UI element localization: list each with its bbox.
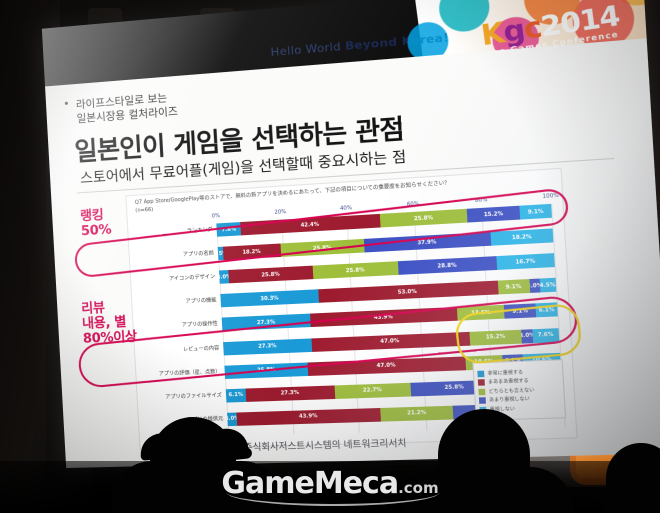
- bar-segment: 30.3%: [220, 290, 319, 308]
- bar-category-label: アプリの機能: [185, 297, 216, 306]
- bullet-dot-icon: [65, 102, 68, 105]
- bar-segment: 43.9%: [237, 408, 382, 426]
- chart-bar-row: レビューの内容27.3%47.0%15.2%3.0%7.6%: [223, 328, 559, 355]
- slide-bullet: 라이프스타일로 보는 일본시장용 컬처라이즈: [76, 90, 179, 126]
- bar-segment: 15.2%: [469, 329, 522, 345]
- x-axis-tick: 40%: [340, 205, 352, 212]
- bar-category-label: アプリの名前: [183, 249, 214, 258]
- bar-segment: 9.1%: [504, 304, 536, 319]
- bar-category-label: アイコンのデザイン: [169, 273, 216, 282]
- bar-segment: 7.6%: [532, 328, 559, 343]
- bar-segment: 22.7%: [334, 383, 411, 399]
- stacked-bar: 27.3%43.9%13.6%9.1%6.1%: [222, 303, 558, 331]
- bar-segment: 53.0%: [319, 281, 499, 303]
- bar-segment: 28.8%: [398, 256, 497, 275]
- bar-segment: 37.9%: [364, 232, 491, 253]
- legend-item: まあまあ重視する: [478, 377, 560, 386]
- bar-category-label: ランキング: [187, 226, 213, 235]
- slide-body: 라이프스타일로 보는 일본시장용 컬처라이즈 일본인이 게임을 선택하는 관점 …: [45, 38, 660, 468]
- legend-swatch: [478, 379, 485, 386]
- bar-segment: 25.8%: [224, 362, 308, 379]
- chart-bar-row: アイコンのデザイン3.0%25.8%25.8%28.8%16.7%: [219, 253, 555, 284]
- x-axis-tick: 20%: [274, 209, 286, 216]
- legend-label: あまり重視しない: [489, 396, 530, 404]
- survey-chart: Q7 App Store/GooglePlay等のストアで、無料の新アプリを決め…: [125, 168, 577, 450]
- legend-swatch: [477, 370, 484, 377]
- bar-segment: 25.8%: [229, 266, 313, 284]
- bar-category-label: アプリの操作性: [181, 320, 218, 329]
- bar-segment: 9.1%: [497, 279, 529, 294]
- watermark: GameMeca.com: [0, 466, 660, 501]
- photo-scene: Hello World Beyond Korea kgc SAMSUNG LIN…: [0, 0, 660, 513]
- bar-segment: 27.3%: [245, 385, 335, 401]
- bar-segment: 7.6%: [216, 222, 241, 237]
- legend-label: どちらとも言えない: [488, 387, 534, 395]
- watermark-swoosh-icon: [226, 478, 440, 506]
- bar-segment: 18.2%: [490, 229, 553, 246]
- bar-category-label: アプリのファイルサイズ: [165, 391, 222, 400]
- bar-segment: 15.2%: [467, 206, 520, 223]
- bar-segment: 21.2%: [381, 406, 453, 422]
- legend-label: 非常に重視する: [487, 369, 523, 377]
- legend-swatch: [479, 397, 486, 404]
- bar-segment: 27.3%: [223, 338, 312, 355]
- bar-segment: 25.8%: [280, 239, 364, 257]
- stacked-bar: 3.0%25.8%25.8%28.8%16.7%: [219, 253, 555, 284]
- stacked-bar: 30.3%53.0%9.1%3.0%4.5%: [220, 278, 556, 308]
- bar-segment: 3.0%: [529, 279, 540, 293]
- bar-segment: 6.1%: [536, 303, 558, 318]
- bar-segment: 27.3%: [222, 314, 311, 331]
- bar-segment: 43.9%: [310, 307, 458, 327]
- legend-item: 非常に重視する: [477, 367, 559, 376]
- bar-segment: 13.6%: [457, 305, 505, 321]
- annotation-ranking: 랭킹 50%: [80, 208, 112, 240]
- chart-bar-row: アプリの操作性27.3%43.9%13.6%9.1%6.1%: [222, 303, 558, 331]
- x-axis-tick: 60%: [407, 201, 420, 208]
- projection-screen: Hello World Beyond Korea! Kgc2014 Korea …: [42, 0, 660, 468]
- x-axis-tick: 100%: [542, 193, 559, 200]
- bar-segment: 16.7%: [496, 253, 555, 270]
- bar-segment: 47.0%: [308, 356, 466, 376]
- bar-segment: 9.1%: [519, 204, 552, 220]
- bar-segment: 47.0%: [311, 331, 469, 351]
- stacked-bar: 27.3%47.0%15.2%3.0%7.6%: [223, 328, 559, 355]
- x-axis-tick: 0%: [212, 213, 221, 220]
- annotation-review: 리뷰 내용, 별 80%이상: [81, 300, 137, 348]
- bar-segment: 18.2%: [222, 244, 281, 260]
- legend-item: どちらとも言えない: [478, 386, 560, 395]
- x-axis-tick: 80%: [475, 197, 488, 204]
- bar-segment: 4.5%: [539, 278, 556, 293]
- bar-segment: 6.1%: [226, 388, 246, 402]
- legend-label: まあまあ重視する: [488, 378, 529, 386]
- legend-item: あまり重視しない: [479, 395, 561, 404]
- bar-segment: 25.8%: [312, 261, 398, 279]
- bar-category-label: アプリの評価（星、点数）: [159, 368, 221, 377]
- legend-swatch: [478, 388, 485, 395]
- bar-category-label: レビューの内容: [183, 344, 220, 353]
- chart-bar-row: アプリの機能30.3%53.0%9.1%3.0%4.5%: [220, 278, 556, 308]
